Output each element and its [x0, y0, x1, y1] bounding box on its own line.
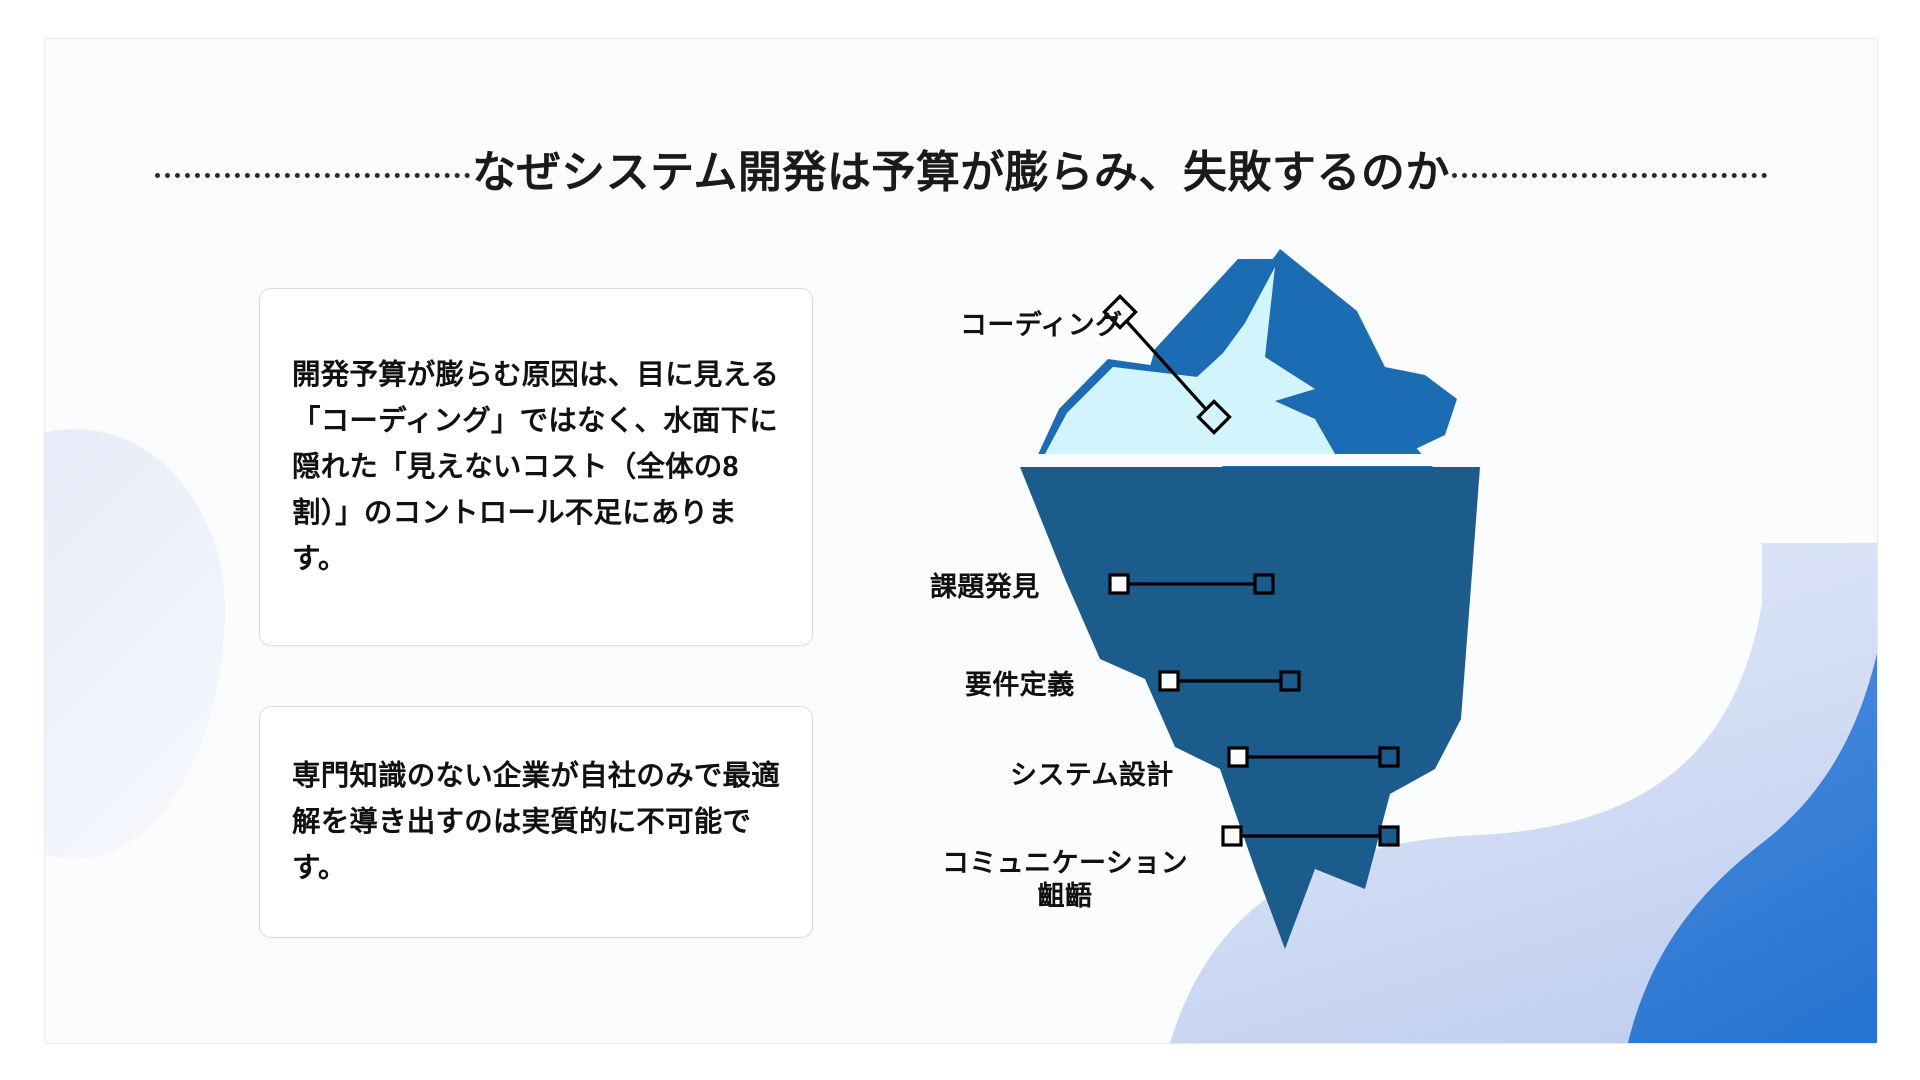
- iceberg-diagram: コーディング 課題発見 要件定義 システム設計 コミュニケーション 齟齬: [845, 249, 1875, 1009]
- iceberg-label-issue-discovery: 課題発見: [930, 571, 1040, 604]
- marker-comm-right: [1380, 827, 1398, 845]
- page-title: なぜシステム開発は予算が膨らみ、失敗するのか: [470, 147, 1452, 200]
- iceberg-above-water: [1035, 249, 1457, 485]
- text-card-impossible: 専門知識のない企業が自社のみで最適解を導き出すのは実質的に不可能です。: [259, 706, 813, 938]
- title-dotted-line-left: [155, 173, 470, 178]
- title-dotted-line-right: [1452, 173, 1767, 178]
- marker-req-right: [1281, 672, 1299, 690]
- text-card-cause: 開発予算が膨らむ原因は、目に見える「コーディング」ではなく、水面下に隠れた「見え…: [259, 288, 813, 646]
- iceberg-label-requirements: 要件定義: [965, 669, 1075, 702]
- waterline-gap: [1020, 454, 1480, 466]
- slide-page: なぜシステム開発は予算が膨らみ、失敗するのか 開発予算が膨らむ原因は、目に見える…: [44, 38, 1878, 1044]
- marker-comm-left: [1223, 827, 1241, 845]
- marker-design-right: [1380, 748, 1398, 766]
- marker-req-left: [1160, 672, 1178, 690]
- iceberg-label-coding: コーディング: [960, 309, 1123, 342]
- marker-design-left: [1229, 748, 1247, 766]
- iceberg-label-communication-gap-line2: 齟齬: [1038, 881, 1093, 911]
- title-row: なぜシステム開発は予算が膨らみ、失敗するのか: [45, 147, 1877, 200]
- marker-issue-left: [1110, 575, 1128, 593]
- iceberg-label-system-design: システム設計: [1010, 759, 1174, 792]
- text-card-cause-body: 開発予算が膨らむ原因は、目に見える「コーディング」ではなく、水面下に隠れた「見え…: [292, 352, 780, 583]
- iceberg-label-communication-gap: コミュニケーション 齟齬: [900, 847, 1230, 913]
- decorative-blob-left: [44, 429, 225, 859]
- iceberg-label-communication-gap-line1: コミュニケーション: [942, 848, 1188, 878]
- slide-root: なぜシステム開発は予算が膨らみ、失敗するのか 開発予算が膨らむ原因は、目に見える…: [0, 0, 1920, 1080]
- marker-issue-right: [1255, 575, 1273, 593]
- text-card-impossible-body: 専門知識のない企業が自社のみで最適解を導き出すのは実質的に不可能です。: [292, 753, 780, 891]
